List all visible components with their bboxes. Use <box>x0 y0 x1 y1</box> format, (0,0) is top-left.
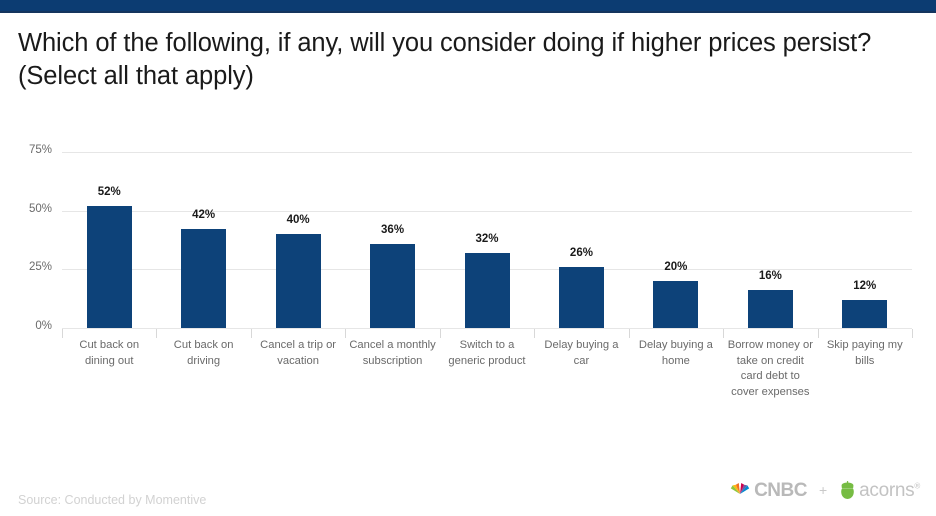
bar-value-label: 16% <box>730 270 810 282</box>
bar[interactable] <box>842 300 887 328</box>
x-axis-category-label: Delay buying a home <box>633 338 719 369</box>
x-axis-tick <box>440 329 441 338</box>
partner-logos: CNBC + acorns® <box>729 479 920 501</box>
cnbc-wordmark: CNBC <box>754 481 807 500</box>
x-axis-tick <box>912 329 913 338</box>
x-axis-category-label: Cut back on driving <box>160 338 246 369</box>
bar-value-label: 12% <box>825 280 905 292</box>
y-axis-tick-label: 50% <box>0 203 52 215</box>
acorns-wordmark: acorns® <box>859 481 920 500</box>
acorns-wordmark-text: acorns <box>859 480 914 501</box>
x-axis-category-label: Cut back on dining out <box>66 338 152 369</box>
bar[interactable] <box>559 267 604 328</box>
bar[interactable] <box>653 281 698 328</box>
x-axis-category-label: Borrow money or take on credit card debt… <box>727 338 813 400</box>
bar-chart: 75%50%25%0%52%Cut back on dining out42%C… <box>0 0 936 516</box>
cnbc-logo: CNBC <box>729 481 807 500</box>
bar[interactable] <box>370 244 415 328</box>
bar-value-label: 32% <box>447 233 527 245</box>
x-axis-tick <box>156 329 157 338</box>
acorns-logo: acorns® <box>839 481 920 500</box>
bar-value-label: 52% <box>69 186 149 198</box>
y-axis-tick-label: 0% <box>0 320 52 332</box>
bar[interactable] <box>181 229 226 328</box>
y-axis-tick-label: 25% <box>0 261 52 273</box>
x-axis-tick <box>345 329 346 338</box>
nbc-peacock-icon <box>729 481 751 499</box>
x-axis-tick <box>534 329 535 338</box>
bar-value-label: 40% <box>258 214 338 226</box>
x-axis-category-label: Cancel a trip or vacation <box>255 338 341 369</box>
x-axis-tick <box>629 329 630 338</box>
bar[interactable] <box>276 234 321 328</box>
bar[interactable] <box>465 253 510 328</box>
plus-separator: + <box>819 483 827 497</box>
x-axis-category-label: Delay buying a car <box>538 338 624 369</box>
bar-value-label: 20% <box>636 261 716 273</box>
bar-value-label: 26% <box>541 247 621 259</box>
x-axis-tick <box>723 329 724 338</box>
bar[interactable] <box>87 206 132 328</box>
x-axis-category-label: Cancel a monthly subscription <box>349 338 435 369</box>
x-axis-tick <box>62 329 63 338</box>
bar[interactable] <box>748 290 793 328</box>
acorn-icon <box>839 481 856 500</box>
x-axis-tick <box>818 329 819 338</box>
gridline <box>62 328 912 329</box>
x-axis-tick <box>251 329 252 338</box>
x-axis-category-label: Skip paying my bills <box>822 338 908 369</box>
bar-value-label: 36% <box>353 224 433 236</box>
slide-canvas: Which of the following, if any, will you… <box>0 0 936 516</box>
registered-mark: ® <box>914 481 920 490</box>
y-axis-tick-label: 75% <box>0 144 52 156</box>
bar-value-label: 42% <box>164 209 244 221</box>
x-axis-category-label: Switch to a generic product <box>444 338 530 369</box>
gridline <box>62 152 912 153</box>
source-note: Source: Conducted by Momentive <box>18 493 206 507</box>
